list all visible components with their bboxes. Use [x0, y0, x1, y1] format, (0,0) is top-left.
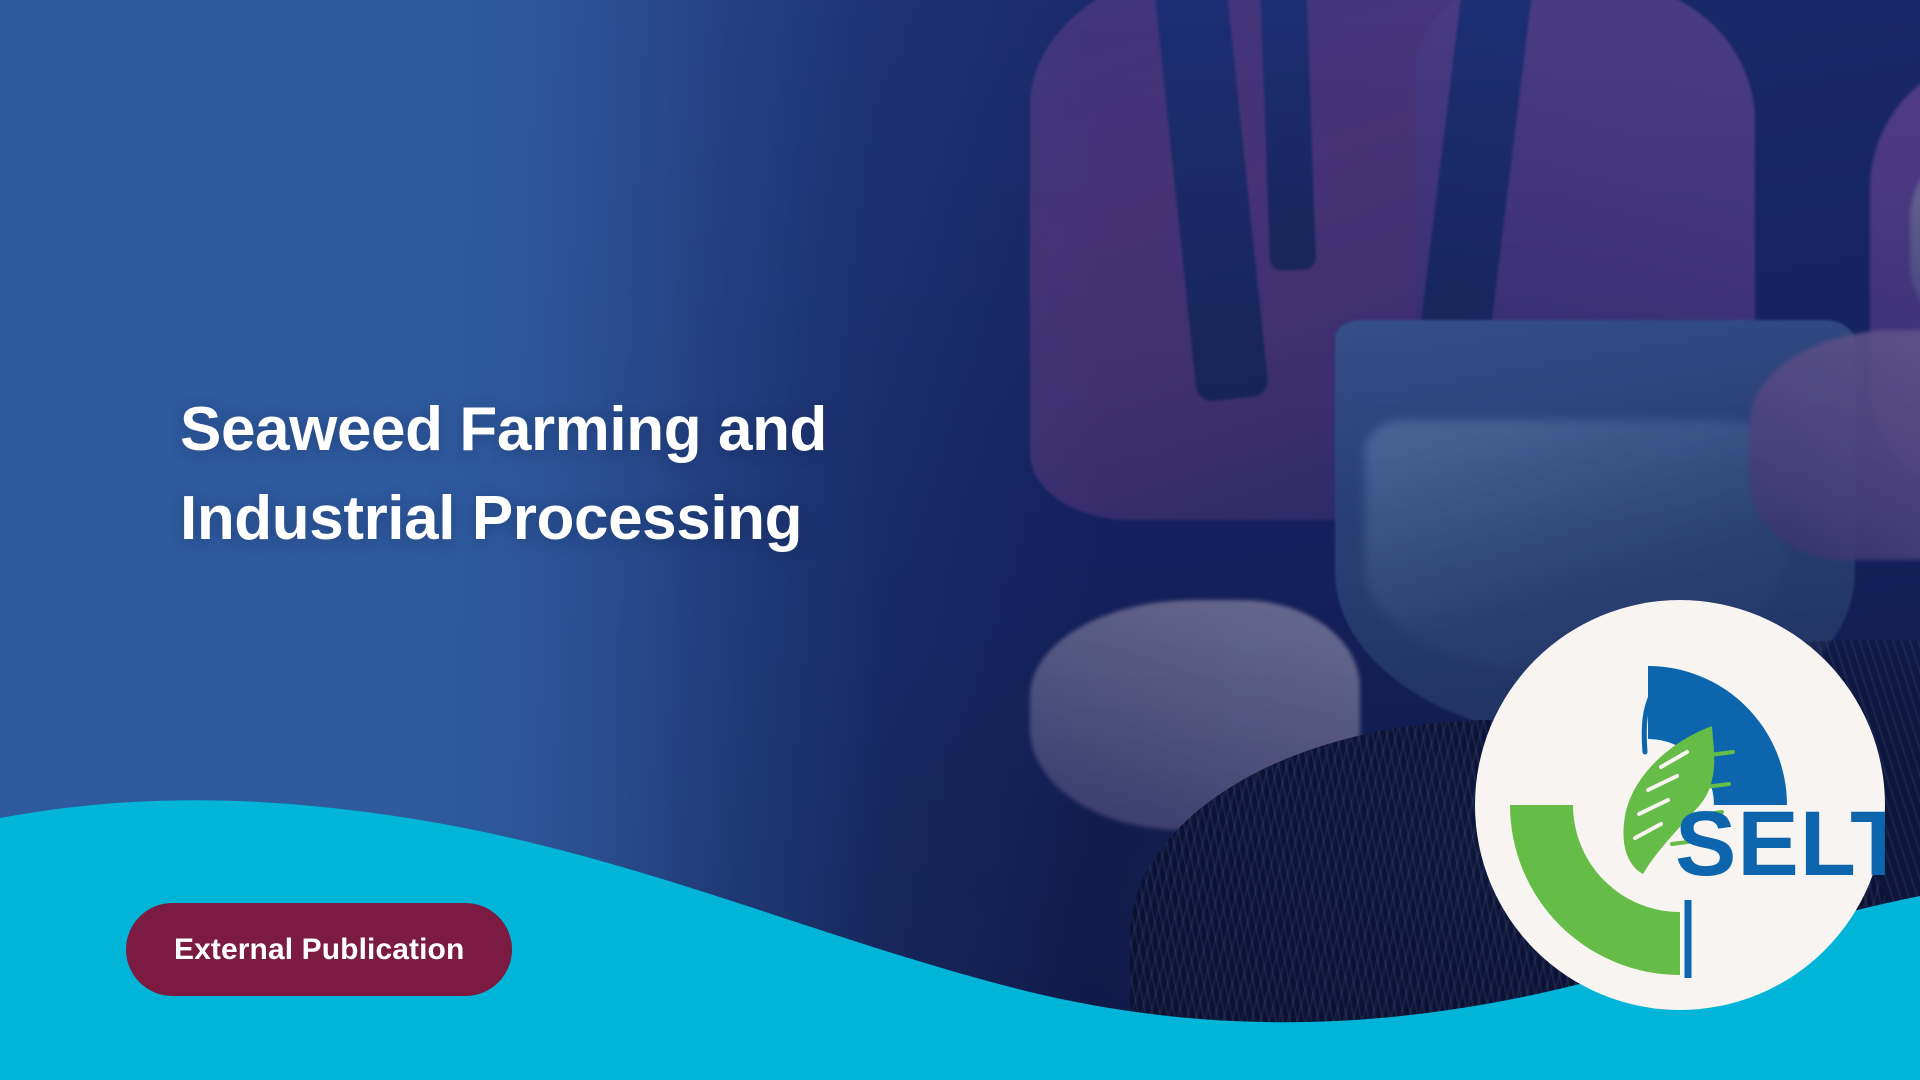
selt-logo[interactable]: SELT: [1475, 600, 1885, 1010]
publication-banner: Seaweed Farming and Industrial Processin…: [0, 0, 1920, 1080]
page-title-line-2: Industrial Processing: [180, 474, 1080, 563]
selt-wordmark: SELT: [1675, 793, 1885, 895]
page-title: Seaweed Farming and Industrial Processin…: [180, 385, 1080, 564]
page-title-line-1: Seaweed Farming and: [180, 385, 1080, 474]
external-publication-badge[interactable]: External Publication: [126, 903, 512, 996]
